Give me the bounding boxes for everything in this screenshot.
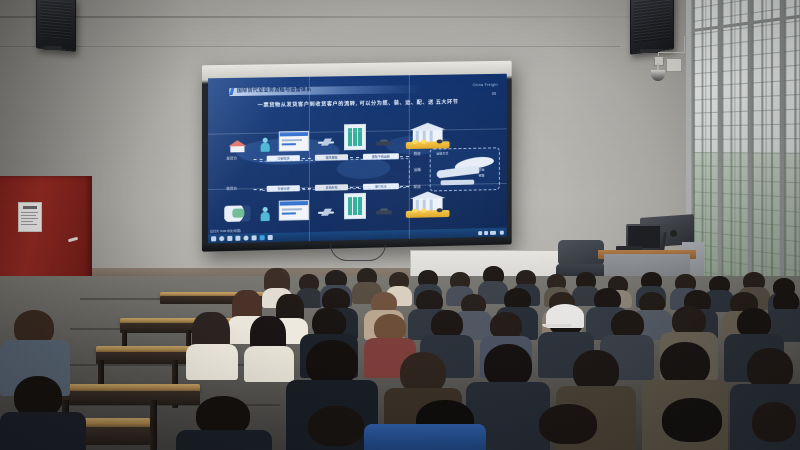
car-icon <box>376 140 392 147</box>
stage-label: 运输 <box>414 168 421 173</box>
slide-bottom-icon-row <box>208 190 507 222</box>
floor-step <box>55 364 275 366</box>
cable-conduit <box>658 52 684 53</box>
notification-icon[interactable] <box>500 230 504 234</box>
microphone-head <box>670 230 677 237</box>
bank-icon <box>406 123 450 150</box>
document-icon <box>279 200 309 221</box>
presentation-slide: 国际货代全业务流程与运营体系 China Freight 05 一票货物从发货客… <box>208 74 507 228</box>
stage-label: 揽收 <box>414 152 421 157</box>
slide-subtitle: 一票货物从发货客户到收货客户的流转, 可以分为揽、装、运、配、送 五大环节 <box>208 98 507 110</box>
building-column <box>358 197 362 215</box>
slide-title: 国际货代全业务流程与运营体系 <box>237 86 312 96</box>
edge-icon[interactable] <box>243 236 248 241</box>
document-header <box>280 201 308 206</box>
folder-icon[interactable] <box>235 236 240 241</box>
audience-member <box>516 404 620 450</box>
document-line <box>282 208 302 210</box>
person-icon <box>261 207 270 221</box>
cable-conduit <box>684 36 685 53</box>
transport-mode-panel: 运输方式 空运 铁路 <box>430 147 500 192</box>
hair <box>308 406 364 446</box>
building-icon <box>344 193 366 219</box>
window-pane <box>750 0 782 313</box>
posted-paper-notice <box>18 202 42 232</box>
train-icon <box>436 165 479 178</box>
building-column <box>348 197 352 215</box>
globe-landmass <box>233 208 245 217</box>
building-column <box>353 197 357 215</box>
door-handle[interactable] <box>68 237 78 243</box>
car-icon <box>376 208 392 215</box>
slide-page-number: 05 <box>492 91 496 96</box>
person-icon <box>261 138 270 152</box>
flow-row-label-sender: 发货方 <box>226 157 237 162</box>
car-body <box>376 210 392 214</box>
hair <box>752 402 796 442</box>
search-icon[interactable] <box>219 236 224 241</box>
car-body <box>376 142 392 146</box>
start-icon[interactable] <box>211 236 216 241</box>
torso <box>176 430 272 450</box>
led-video-wall[interactable]: 国际货代全业务流程与运营体系 China Freight 05 一票货物从发货客… <box>202 61 512 252</box>
speaker-grille <box>634 0 670 43</box>
house-icon <box>226 139 248 152</box>
person-torso <box>261 212 270 221</box>
volume-icon[interactable] <box>484 231 488 235</box>
person-torso <box>261 143 270 152</box>
transport-panel-title: 运输方式 <box>436 152 448 156</box>
window-pane <box>782 0 800 319</box>
plane-icon <box>318 139 334 147</box>
panel-seam <box>409 75 410 239</box>
wall-speaker-right <box>630 0 674 55</box>
notice-line <box>21 218 38 219</box>
wall-seam <box>0 46 620 47</box>
powerpoint-status-bar: 幻灯片 5/28 中文(中国) <box>210 229 241 234</box>
torso <box>0 412 86 450</box>
transport-mode-label: 铁路 <box>479 173 485 177</box>
podium-monitor-screen <box>628 226 660 248</box>
panel-seam <box>309 77 310 241</box>
camera-mount <box>654 56 664 66</box>
document-line <box>282 139 302 141</box>
security-camera <box>650 56 666 82</box>
bank-icon <box>406 191 450 218</box>
document-line <box>282 212 296 214</box>
input-method-icon[interactable] <box>490 230 496 234</box>
transport-mode-label: 空运 <box>479 168 485 172</box>
speaker-bracket <box>44 46 62 50</box>
camera-dome <box>651 70 665 81</box>
window-pane <box>720 0 750 307</box>
audience-member <box>0 376 86 450</box>
desk-leg <box>150 400 157 450</box>
wall-speaker-left <box>36 0 76 52</box>
lecture-hall-photo: 国际货代全业务流程与运营体系 China Freight 05 一票货物从发货客… <box>0 0 800 450</box>
hair <box>539 404 597 444</box>
audience-member <box>176 396 272 450</box>
task-view-icon[interactable] <box>227 236 232 241</box>
audience-member <box>186 312 238 372</box>
audience-member <box>636 398 746 450</box>
bank-column <box>430 131 433 142</box>
bank-column <box>430 199 433 210</box>
globe-icon <box>225 205 251 222</box>
ceiling-edge <box>0 16 640 18</box>
powerpoint-icon[interactable] <box>260 235 265 240</box>
blue-chair-back <box>364 424 486 450</box>
speaker-grille <box>40 0 72 40</box>
hanging-cable <box>330 244 386 261</box>
slide-logo: China Freight <box>473 83 498 87</box>
cap-brim <box>542 324 572 327</box>
notice-line <box>21 212 38 213</box>
audience-member <box>744 402 800 450</box>
notice-line <box>21 215 36 216</box>
red-classroom-door[interactable] <box>0 176 92 286</box>
building-icon <box>344 124 366 150</box>
network-icon[interactable] <box>478 231 482 235</box>
system-tray[interactable] <box>478 230 504 235</box>
document-line <box>282 144 296 146</box>
explorer-icon[interactable] <box>252 235 257 240</box>
notice-line <box>21 224 37 225</box>
hair <box>662 398 722 442</box>
house-body <box>230 147 244 153</box>
video-wall-screen[interactable]: 国际货代全业务流程与运营体系 China Freight 05 一票货物从发货客… <box>208 74 507 244</box>
app-icon[interactable] <box>268 235 273 240</box>
document-icon <box>279 131 309 152</box>
notice-heading <box>23 206 37 209</box>
camera-junction-box <box>666 58 682 72</box>
plane-icon <box>318 208 334 216</box>
torso <box>186 344 238 380</box>
notice-line <box>21 221 33 222</box>
speaker-bracket <box>640 49 660 53</box>
